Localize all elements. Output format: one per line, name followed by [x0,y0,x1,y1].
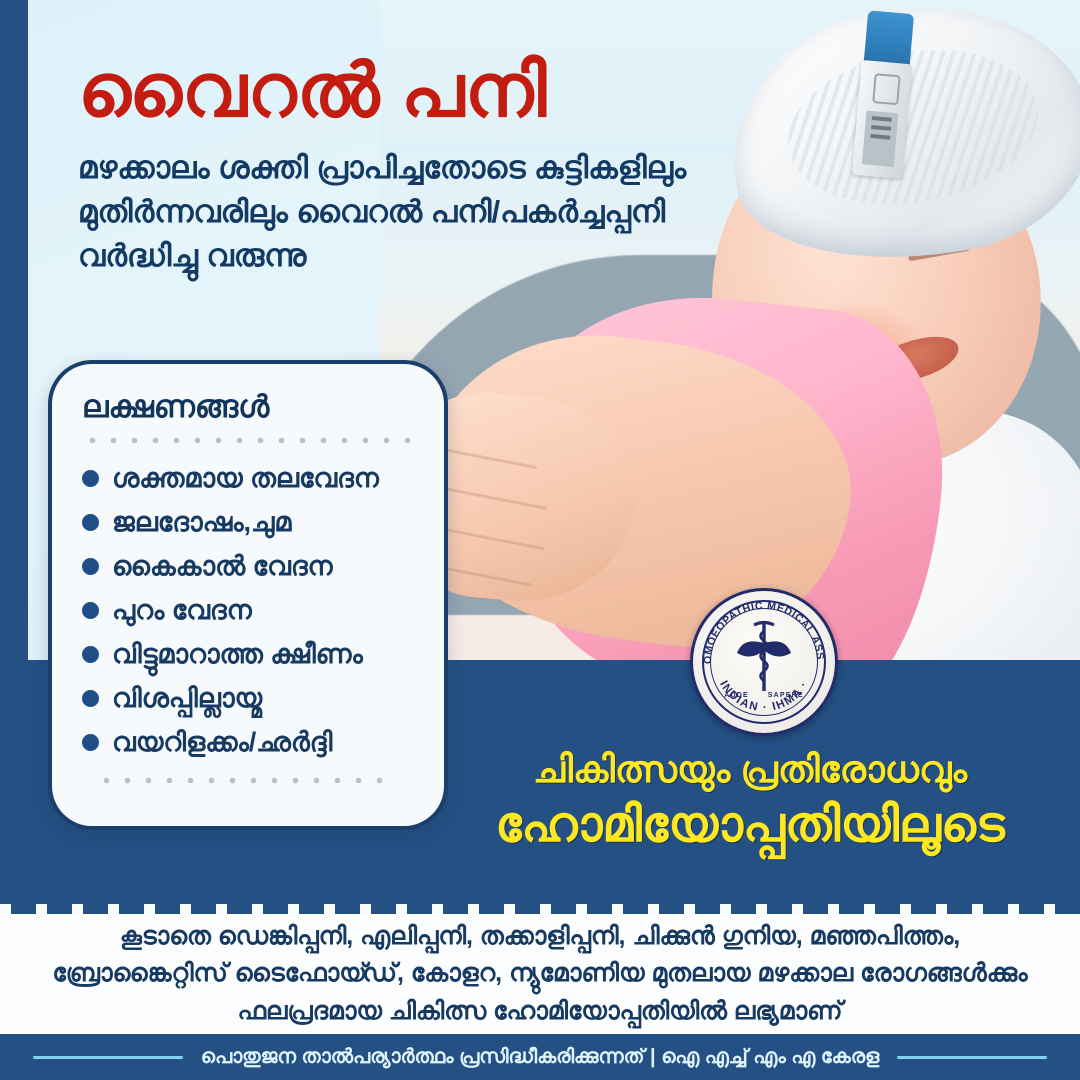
rule-right [897,1056,1047,1059]
bullet-icon [82,646,99,663]
symptom-label: വിശപ്പില്ലായ്മ [112,683,262,714]
symptom-label: പുറം വേദന [112,595,252,626]
page-subtitle: മഴക്കാലം ശക്തി പ്രാപിച്ചതോടെ കുട്ടികളിലു… [78,146,778,278]
poster-root: വൈറൽ പനി മഴക്കാലം ശക്തി പ്രാപിച്ചതോടെ കു… [0,0,1080,1080]
list-item: വിശപ്പില്ലായ്മ [82,683,418,714]
bullet-icon [82,734,99,751]
symptom-label: ശക്തമായ തലവേദന [112,463,379,494]
motto-left: AUDE [724,692,749,699]
symptoms-list: ശക്തമായ തലവേദന ജലദോഷം,ചുമ കൈകാൽ വേദന പുറ… [82,463,418,758]
footer-note-text: കൂടാതെ ഡെങ്കിപ്പനി, എലിപ്പനി, തക്കാളിപ്പ… [40,918,1040,1031]
list-item: കൈകാൽ വേദന [82,551,418,582]
title-block: വൈറൽ പനി മഴക്കാലം ശക്തി പ്രാപിച്ചതോടെ കു… [78,52,798,278]
thermometer-screen [862,111,899,168]
caduceus-icon [735,617,793,697]
thermometer-emblem [872,73,901,105]
symptoms-card: ലക്ഷണങ്ങൾ ശക്തമായ തലവേദന ജലദോഷം,ചുമ കൈകാ… [48,360,448,830]
tagline-block: ചികിത്സയും പ്രതിരോധവും ഹോമിയോപ്പതിയിലൂടെ [440,748,1060,855]
left-rail [0,0,28,900]
logo-motto: AUDE SAPERE [693,692,835,699]
dotted-divider-bottom [96,776,385,785]
thermometer-cap [864,10,915,68]
symptom-label: കൈകാൽ വേദന [112,551,333,582]
bullet-icon [82,558,99,575]
footer-note: കൂടാതെ ഡെങ്കിപ്പനി, എലിപ്പനി, തക്കാളിപ്പ… [0,914,1080,1034]
page-title: വൈറൽ പനി [78,52,798,130]
bottom-credit-strip: പൊതുജന താൽപര്യാർത്ഥം പ്രസിദ്ധീകരിക്കുന്ന… [0,1034,1080,1080]
list-item: വിട്ടുമാറാത്ത ക്ഷീണം [82,639,418,670]
tagline-line-1: ചികിത്സയും പ്രതിരോധവും [440,748,1060,792]
symptoms-heading: ലക്ഷണങ്ങൾ [82,390,418,424]
ihma-logo: INDIAN HOMOEOPATHIC MEDICAL ASSOCIATION … [690,588,838,736]
list-item: ജലദോഷം,ചുമ [82,507,418,538]
dotted-divider-top [82,436,418,445]
bullet-icon [82,602,99,619]
bullet-icon [82,470,99,487]
motto-right: SAPERE [768,692,804,699]
credit-text: പൊതുജന താൽപര്യാർത്ഥം പ്രസിദ്ധീകരിക്കുന്ന… [201,1046,880,1069]
list-item: ശക്തമായ തലവേദന [82,463,418,494]
bullet-icon [82,514,99,531]
list-item: പുറം വേദന [82,595,418,626]
symptom-label: വയറിളക്കം/ഛർദ്ദി [112,727,332,758]
rule-left [33,1056,183,1059]
bullet-icon [82,690,99,707]
symptom-label: വിട്ടുമാറാത്ത ക്ഷീണം [112,639,363,670]
symptom-label: ജലദോഷം,ചുമ [112,507,291,538]
notched-divider [0,900,1080,914]
list-item: വയറിളക്കം/ഛർദ്ദി [82,727,418,758]
tagline-line-2: ഹോമിയോപ്പതിയിലൂടെ [440,796,1060,855]
